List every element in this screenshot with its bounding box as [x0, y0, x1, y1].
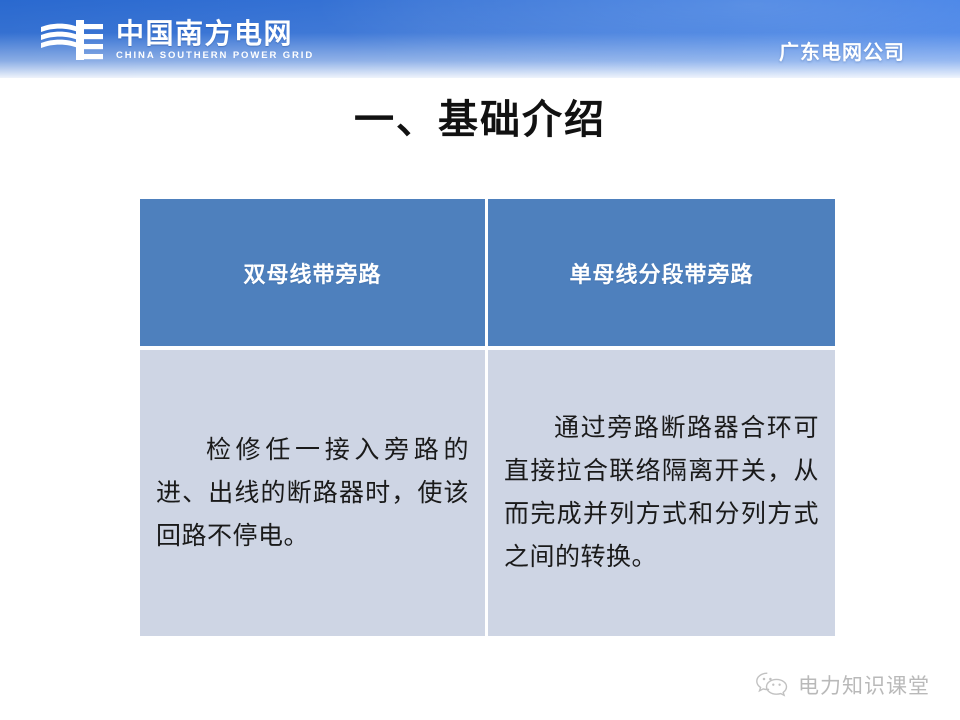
table-header-cell-left: 双母线带旁路 [140, 199, 488, 350]
comparison-table: 双母线带旁路 单母线分段带旁路 检修任一接入旁路的进、出线的断路器时，使该回路不… [140, 199, 835, 636]
brand-logo-text: 中国南方电网 CHINA SOUTHERN POWER GRID [116, 17, 314, 63]
table-header-cell-right: 单母线分段带旁路 [488, 199, 835, 350]
watermark-label: 电力知识课堂 [798, 670, 930, 700]
header-banner: 中国南方电网 CHINA SOUTHERN POWER GRID 广东电网公司 [0, 0, 960, 78]
brand-name-cn: 中国南方电网 [116, 19, 314, 48]
table-body-cell-right: 通过旁路断路器合环可直接拉合联络隔离开关，从而完成并列方式和分列方式之间的转换。 [488, 350, 835, 636]
table-header-row: 双母线带旁路 单母线分段带旁路 [140, 199, 835, 350]
table-header-label-left: 双母线带旁路 [243, 257, 381, 289]
southern-power-grid-logo-icon [40, 18, 106, 62]
page-title: 一、基础介绍 [0, 96, 960, 144]
table-body-row: 检修任一接入旁路的进、出线的断路器时，使该回路不停电。 通过旁路断路器合环可直接… [140, 350, 835, 636]
wechat-icon [755, 671, 789, 699]
table-body-text-left: 检修任一接入旁路的进、出线的断路器时，使该回路不停电。 [156, 429, 469, 558]
watermark: 电力知识课堂 [755, 670, 930, 700]
slide-root: 中国南方电网 CHINA SOUTHERN POWER GRID 广东电网公司 … [0, 0, 960, 720]
company-name: 广东电网公司 [779, 36, 905, 65]
brand-name-en: CHINA SOUTHERN POWER GRID [116, 50, 314, 61]
table-body-cell-left: 检修任一接入旁路的进、出线的断路器时，使该回路不停电。 [140, 350, 488, 636]
table-header-label-right: 单母线分段带旁路 [569, 257, 753, 289]
brand-logo: 中国南方电网 CHINA SOUTHERN POWER GRID [40, 14, 314, 66]
table-body-text-right: 通过旁路断路器合环可直接拉合联络隔离开关，从而完成并列方式和分列方式之间的转换。 [504, 407, 819, 579]
